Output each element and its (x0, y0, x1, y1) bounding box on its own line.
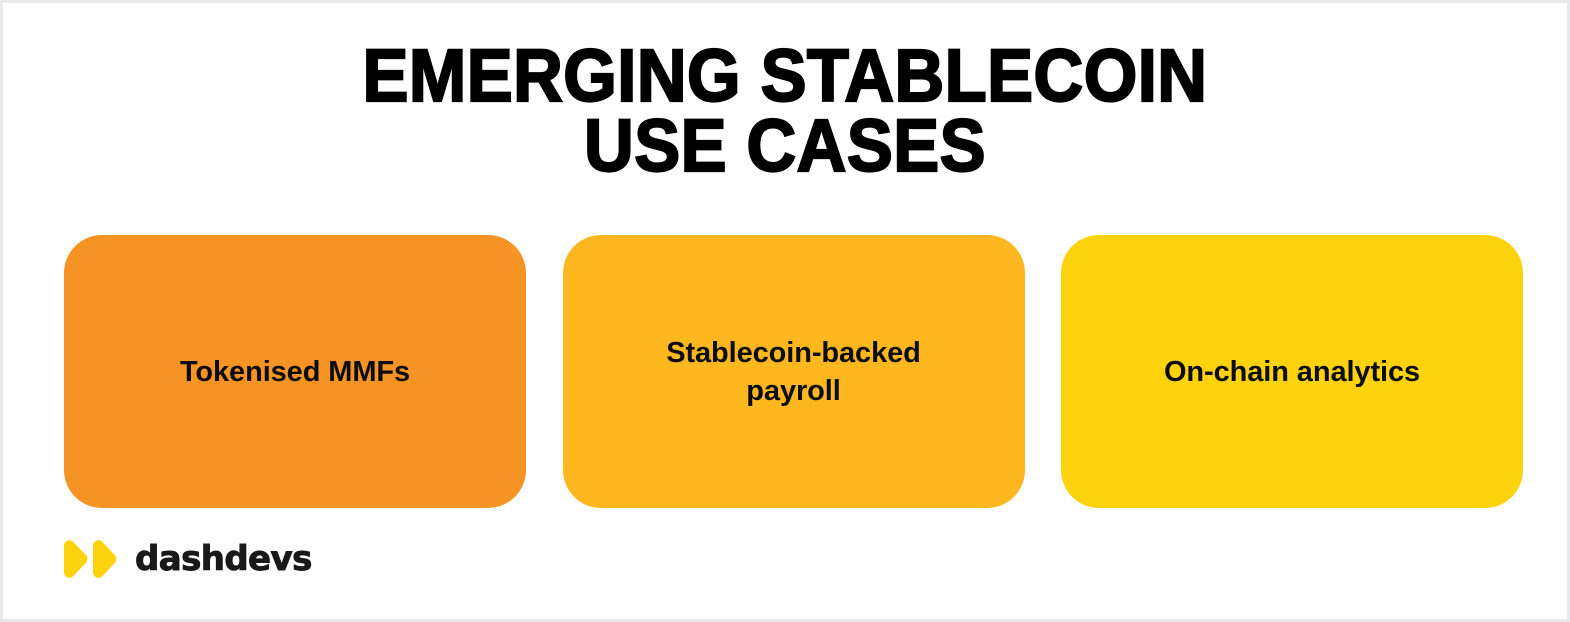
page-title-line-1: EMERGING STABLECOIN (58, 41, 1513, 111)
infographic-canvas: EMERGING STABLECOIN USE CASES Tokenised … (0, 0, 1570, 622)
use-case-card-label: On-chain analytics (1164, 353, 1420, 391)
use-case-cards: Tokenised MMFs Stablecoin-backed payroll… (64, 235, 1523, 508)
use-case-card-on-chain-analytics: On-chain analytics (1061, 235, 1523, 508)
use-case-card-tokenised-mmfs: Tokenised MMFs (64, 235, 526, 508)
brand-logo: dashdevs (61, 540, 312, 578)
logo-wordmark: dashdevs (135, 542, 312, 576)
page-title: EMERGING STABLECOIN USE CASES (3, 41, 1567, 181)
play-triangle-icon (93, 540, 116, 578)
page-title-line-2: USE CASES (58, 111, 1513, 181)
logo-mark (61, 540, 118, 578)
play-triangle-icon (64, 540, 87, 578)
use-case-card-label: Tokenised MMFs (180, 353, 410, 391)
use-case-card-label: Stablecoin-backed payroll (666, 334, 921, 410)
use-case-card-stablecoin-backed-payroll: Stablecoin-backed payroll (563, 235, 1025, 508)
